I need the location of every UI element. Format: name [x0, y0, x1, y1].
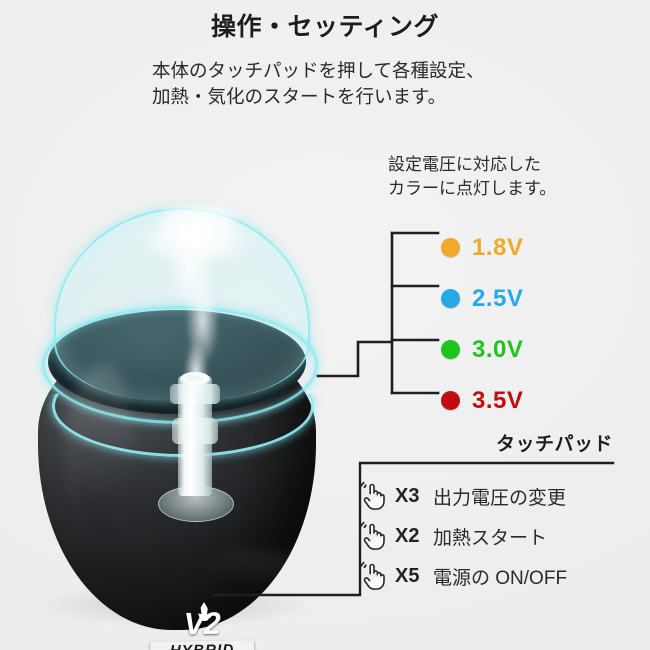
- product-infographic: 操作・セッティング 本体のタッチパッドを押して各種設定、 加熱・気化のスタートを…: [0, 0, 650, 650]
- voltage-label: 1.8V: [472, 234, 523, 262]
- led-color-dot: [441, 340, 460, 359]
- voltage-label: 3.5V: [472, 387, 523, 415]
- tap-hand-icon: [358, 521, 386, 551]
- tap-action-text: 加熱スタート: [433, 523, 547, 550]
- voltage-row: 1.8V: [441, 222, 631, 273]
- tap-action-text: 出力電圧の変更: [433, 483, 566, 510]
- voltage-row: 3.0V: [441, 324, 631, 375]
- touchpad-action-row: X5 電源の ON/OFF: [358, 556, 628, 596]
- tap-count: X3: [395, 485, 424, 508]
- touchpad-action-row: X2 加熱スタート: [358, 516, 628, 556]
- touchpad-heading: タッチパッド: [360, 429, 613, 456]
- voltage-note: 設定電圧に対応した カラーに点灯します。: [388, 153, 556, 201]
- led-color-dot: [441, 238, 460, 257]
- voltage-label: 3.0V: [472, 336, 523, 364]
- led-color-dot: [441, 391, 460, 410]
- tap-count: X5: [395, 565, 424, 588]
- led-color-dot: [441, 289, 460, 308]
- voltage-row: 3.5V: [441, 375, 631, 426]
- tap-hand-icon: [358, 481, 386, 511]
- voltage-legend: 1.8V 2.5V 3.0V 3.5V: [441, 222, 631, 426]
- voltage-label: 2.5V: [472, 285, 523, 313]
- touchpad-action-list: X3 出力電圧の変更 X2 加熱スタート: [358, 476, 628, 596]
- touchpad-action-row: X3 出力電圧の変更: [358, 476, 628, 516]
- tap-hand-icon: [358, 561, 386, 591]
- tap-action-text: 電源の ON/OFF: [433, 563, 567, 590]
- tap-count: X2: [395, 525, 424, 548]
- voltage-row: 2.5V: [441, 273, 631, 324]
